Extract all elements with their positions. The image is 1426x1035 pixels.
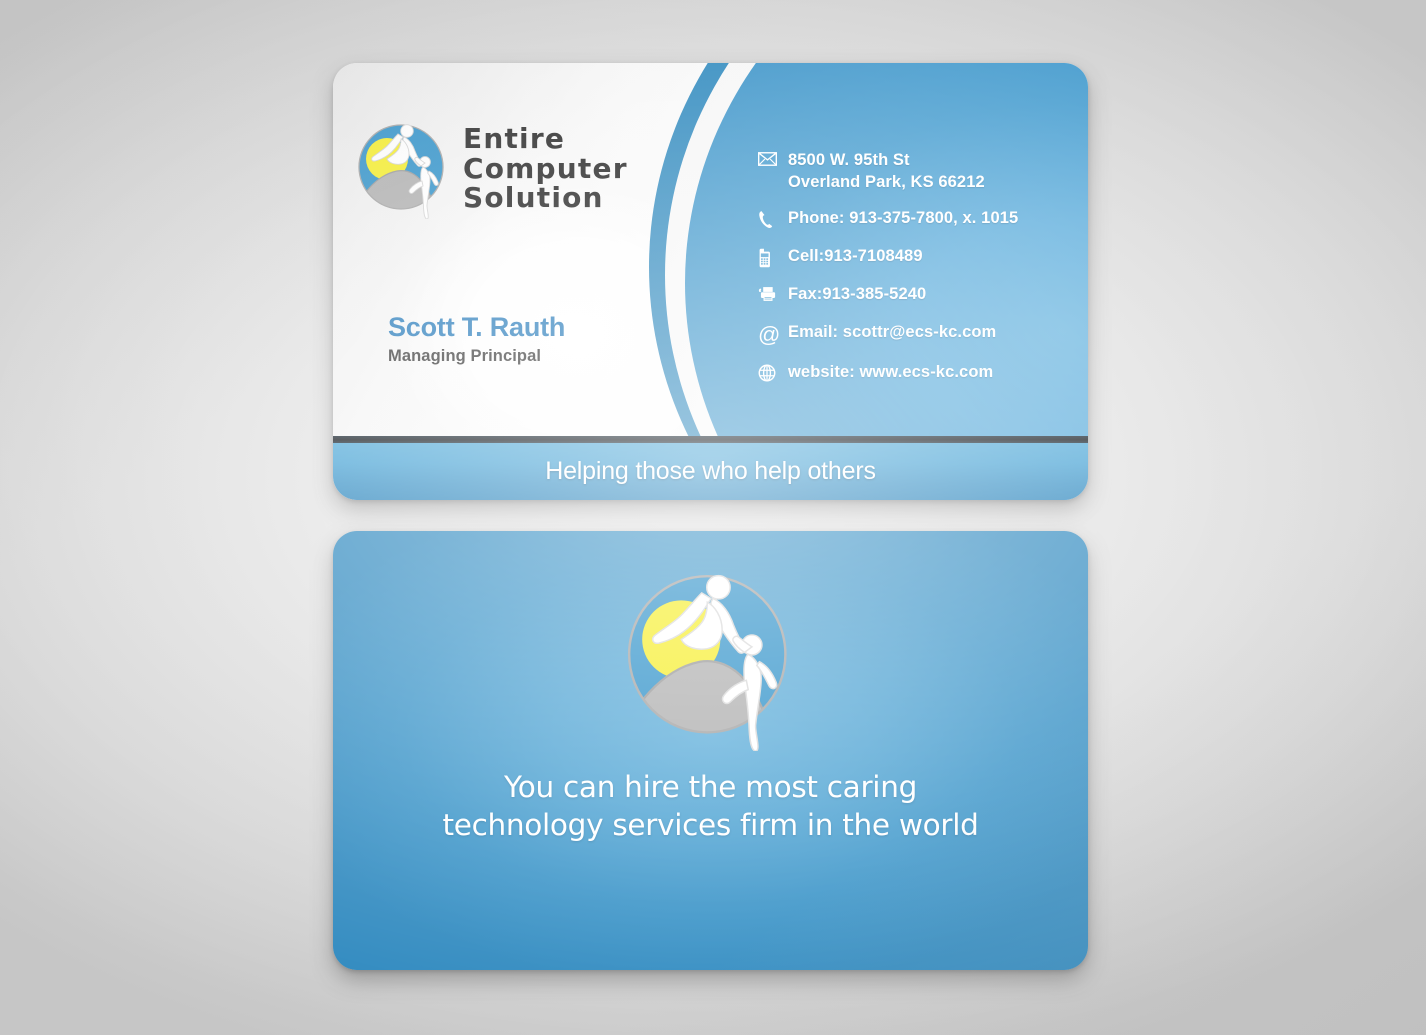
logo-wordmark: Entire Computer Solution — [463, 124, 628, 213]
address-line-2: Overland Park, KS 66212 — [788, 173, 985, 191]
contact-row-cell: Cell:913-7108489 — [758, 246, 1078, 268]
contact-list: 8500 W. 95th StOverland Park, KS 66212 P… — [758, 150, 1078, 400]
phone-handset-icon — [758, 208, 788, 229]
globe-icon — [758, 362, 788, 382]
person-name: Scott T. Rauth — [388, 313, 565, 343]
contact-fax-text: Fax:913-385-5240 — [788, 284, 926, 306]
address-line-1: 8500 W. 95th St — [788, 151, 910, 169]
contact-row-address: 8500 W. 95th StOverland Park, KS 66212 — [758, 150, 1078, 194]
contact-cell-text: Cell:913-7108489 — [788, 246, 923, 268]
contact-email-text: Email: scottr@ecs-kc.com — [788, 322, 996, 344]
tagline-rule — [333, 436, 1088, 443]
logo-lockup: Entire Computer Solution — [357, 119, 628, 219]
back-card-content: You can hire the most caring technology … — [333, 531, 1088, 970]
back-tagline: You can hire the most caring technology … — [442, 769, 978, 845]
business-card-front: Entire Computer Solution Scott T. Rauth … — [333, 63, 1088, 500]
contact-row-phone: Phone: 913-375-7800, x. 1015 — [758, 208, 1078, 230]
mobile-phone-icon — [758, 246, 788, 268]
contact-row-fax: Fax:913-385-5240 — [758, 284, 1078, 306]
contact-row-website: website: www.ecs-kc.com — [758, 362, 1078, 384]
contact-phone-text: Phone: 913-375-7800, x. 1015 — [788, 208, 1018, 230]
business-card-back: You can hire the most caring technology … — [333, 531, 1088, 970]
logo-wordmark-line-2: Computer — [463, 154, 628, 184]
at-sign-icon: @ — [758, 322, 788, 346]
person-block: Scott T. Rauth Managing Principal — [388, 313, 565, 366]
front-tagline-text: Helping those who help others — [333, 443, 1088, 500]
back-tagline-line-2: technology services firm in the world — [442, 807, 978, 845]
back-tagline-line-1: You can hire the most caring — [442, 769, 978, 807]
front-tagline-band: Helping those who help others — [333, 436, 1088, 500]
two-climbers-helping-logo-icon — [625, 565, 797, 751]
person-title: Managing Principal — [388, 347, 565, 366]
mockup-stage: Entire Computer Solution Scott T. Rauth … — [0, 0, 1426, 1035]
two-climbers-helping-logo-icon — [357, 119, 449, 219]
envelope-icon — [758, 150, 788, 166]
fax-printer-icon — [758, 284, 788, 302]
contact-website-text: website: www.ecs-kc.com — [788, 362, 993, 384]
contact-address-text: 8500 W. 95th StOverland Park, KS 66212 — [788, 150, 985, 194]
contact-row-email: @ Email: scottr@ecs-kc.com — [758, 322, 1078, 346]
logo-wordmark-line-1: Entire — [463, 124, 628, 154]
logo-wordmark-line-3: Solution — [463, 183, 628, 213]
